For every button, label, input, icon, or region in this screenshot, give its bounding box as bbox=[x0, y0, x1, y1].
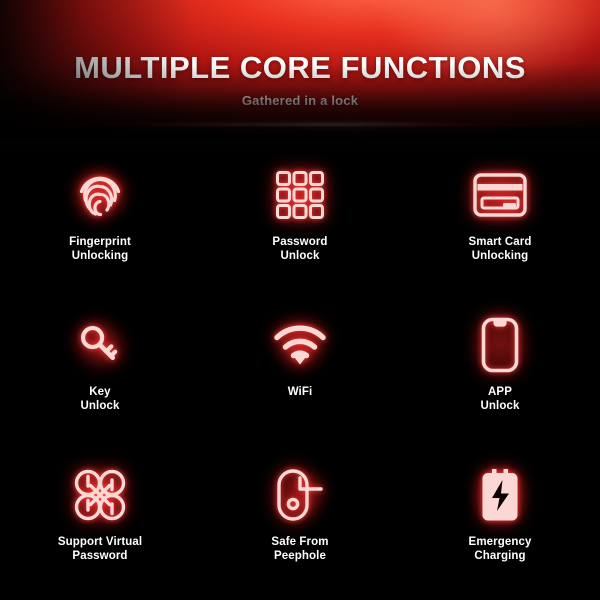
smartphone-icon bbox=[469, 314, 531, 376]
feature-label-line2: Charging bbox=[469, 549, 532, 563]
fingerprint-icon bbox=[69, 164, 131, 226]
feature-label: Emergency Charging bbox=[469, 535, 532, 563]
feature-item-wifi[interactable]: WiFi bbox=[200, 300, 400, 450]
feature-label-line2: Unlock bbox=[481, 399, 520, 413]
feature-label-line1: Key bbox=[81, 385, 120, 399]
feature-label-line2: Unlock bbox=[272, 249, 327, 263]
keypad-grid-icon bbox=[269, 164, 331, 226]
feature-label-line1: Support Virtual bbox=[58, 535, 142, 549]
feature-item-peephole[interactable]: Safe From Peephole bbox=[200, 450, 400, 600]
feature-label: Password Unlock bbox=[272, 235, 327, 263]
door-peephole-icon bbox=[269, 464, 331, 526]
feature-label-line1: Password bbox=[272, 235, 327, 249]
feature-label: Support Virtual Password bbox=[58, 535, 142, 563]
feature-label: APP Unlock bbox=[481, 385, 520, 413]
feature-label-line2: Unlocking bbox=[469, 249, 532, 263]
banner-light-line bbox=[0, 123, 600, 127]
feature-label-line1: Fingerprint bbox=[69, 235, 131, 249]
feature-grid: Fingerprint Unlocking bbox=[0, 150, 600, 600]
feature-label-line1: Smart Card bbox=[469, 235, 532, 249]
feature-item-smart-card[interactable]: Smart Card Unlocking bbox=[400, 150, 600, 300]
hero-banner: MULTIPLE CORE FUNCTIONS Gathered in a lo… bbox=[0, 0, 600, 140]
feature-label: Safe From Peephole bbox=[271, 535, 328, 563]
page-title: MULTIPLE CORE FUNCTIONS bbox=[0, 50, 600, 86]
pattern-nodes-icon bbox=[69, 464, 131, 526]
feature-item-virtual-password[interactable]: Support Virtual Password bbox=[0, 450, 200, 600]
feature-label-line2: Peephole bbox=[271, 549, 328, 563]
feature-item-password[interactable]: Password Unlock bbox=[200, 150, 400, 300]
feature-label-line1: Safe From bbox=[271, 535, 328, 549]
page-subtitle: Gathered in a lock bbox=[0, 93, 600, 108]
feature-item-key[interactable]: Key Unlock bbox=[0, 300, 200, 450]
feature-label: Key Unlock bbox=[81, 385, 120, 413]
feature-item-emergency-charging[interactable]: Emergency Charging bbox=[400, 450, 600, 600]
banner-light-bar bbox=[0, 118, 600, 134]
feature-label: Smart Card Unlocking bbox=[469, 235, 532, 263]
banner-fade bbox=[0, 126, 600, 140]
feature-label-line2: Unlock bbox=[81, 399, 120, 413]
feature-label: Fingerprint Unlocking bbox=[69, 235, 131, 263]
wifi-icon bbox=[269, 314, 331, 376]
feature-label-line2: Password bbox=[58, 549, 142, 563]
feature-label-line1: WiFi bbox=[288, 385, 313, 399]
battery-charging-icon bbox=[469, 464, 531, 526]
feature-item-app[interactable]: APP Unlock bbox=[400, 300, 600, 450]
smart-card-icon bbox=[469, 164, 531, 226]
key-icon bbox=[69, 314, 131, 376]
feature-label: WiFi bbox=[288, 385, 313, 399]
feature-item-fingerprint[interactable]: Fingerprint Unlocking bbox=[0, 150, 200, 300]
feature-label-line1: Emergency bbox=[469, 535, 532, 549]
feature-label-line2: Unlocking bbox=[69, 249, 131, 263]
feature-label-line1: APP bbox=[481, 385, 520, 399]
promo-banner-page: MULTIPLE CORE FUNCTIONS Gathered in a lo… bbox=[0, 0, 600, 600]
